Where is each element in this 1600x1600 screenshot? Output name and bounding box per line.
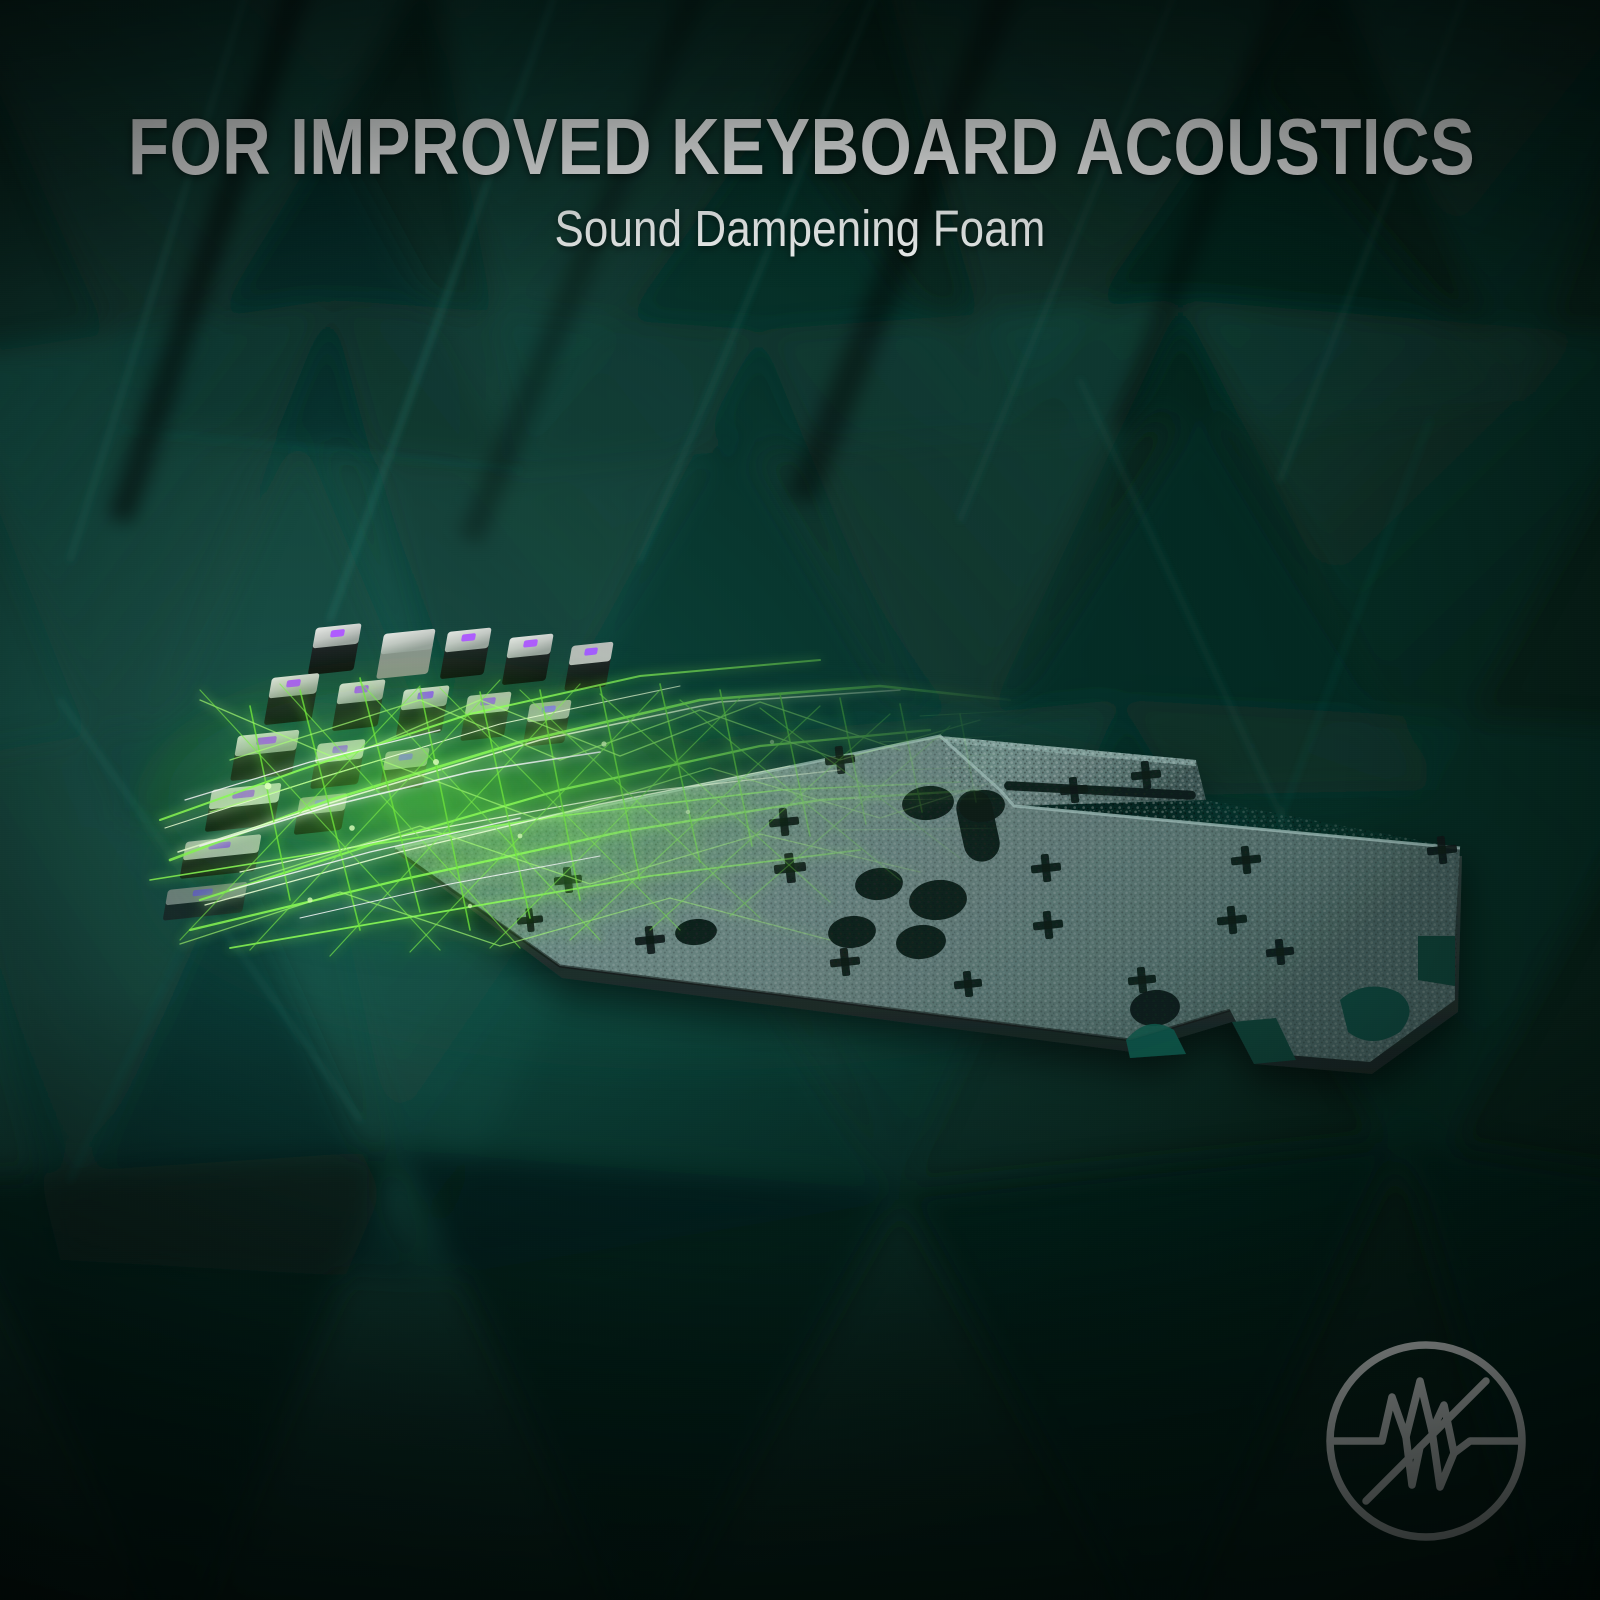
page-subtitle: Sound Dampening Foam bbox=[112, 200, 1488, 258]
page-title: FOR IMPROVED KEYBOARD ACOUSTICS bbox=[128, 104, 1472, 190]
product-banner: FOR IMPROVED KEYBOARD ACOUSTICS Sound Da… bbox=[0, 0, 1600, 1600]
sound-dampening-waveform-slash-icon bbox=[1320, 1335, 1532, 1547]
